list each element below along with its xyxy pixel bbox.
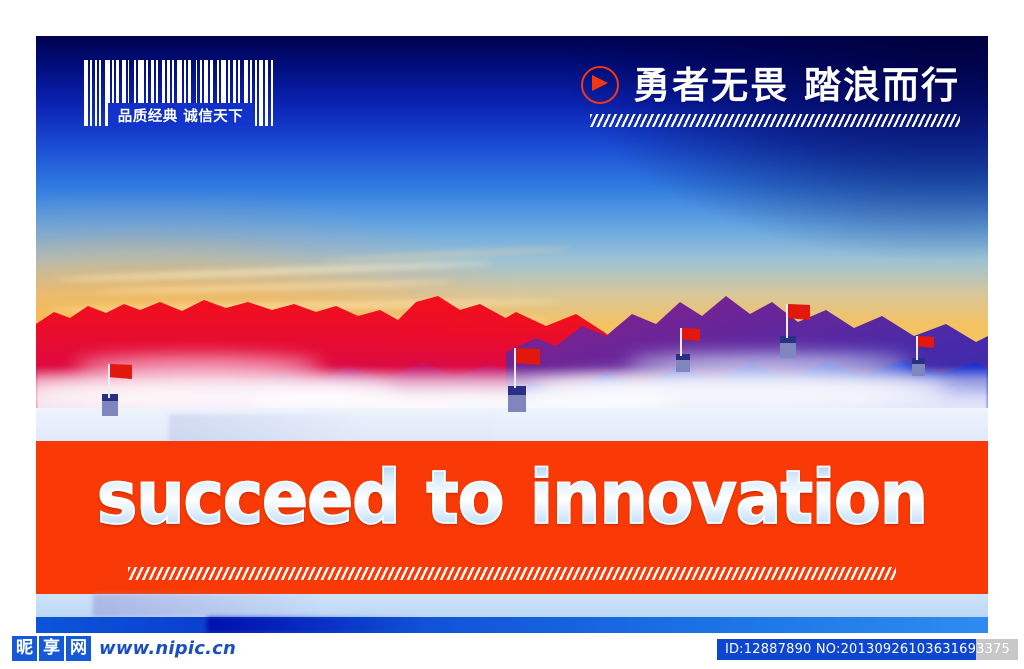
red-flag xyxy=(916,336,936,360)
flag-cloth xyxy=(516,348,540,365)
barcode-label: 品质经典 诚信天下 xyxy=(84,103,277,127)
red-flag xyxy=(680,328,702,356)
flag-cloth xyxy=(110,364,132,379)
logo-char: 享 xyxy=(39,636,64,661)
watchtower xyxy=(676,354,690,372)
watchtower xyxy=(508,386,526,412)
barcode-icon: 品质经典 诚信天下 xyxy=(84,60,277,126)
play-arrow-circle-icon xyxy=(581,66,619,104)
flag-pole xyxy=(108,364,110,398)
blue-strip xyxy=(36,617,988,633)
poster: 品质经典 诚信天下 勇者无畏 踏浪而行 succeedtoinnovation xyxy=(36,36,988,633)
headline-word: innovation xyxy=(530,461,927,535)
site-url[interactable]: www.nipic.cn xyxy=(99,638,236,659)
flag-cloth xyxy=(918,336,934,348)
flag-pole xyxy=(786,304,788,338)
footer-brand[interactable]: 昵 享 网 www.nipic.cn xyxy=(12,636,236,661)
barcode-label-text: 品质经典 诚信天下 xyxy=(118,105,244,126)
watchtower xyxy=(912,358,925,376)
slogan-text: 勇者无畏 踏浪而行 xyxy=(633,67,960,104)
hatch-rule-header xyxy=(590,114,960,127)
poster-canvas: 品质经典 诚信天下 勇者无畏 踏浪而行 succeedtoinnovation xyxy=(0,0,1024,669)
watchtower xyxy=(780,336,796,358)
flag-pole xyxy=(680,328,682,356)
wall-reflection xyxy=(169,414,493,444)
image-meta: ID:12887890 NO:20130926103631693375 xyxy=(717,639,1018,660)
headline-word: succeed xyxy=(97,461,400,535)
slogan: 勇者无畏 踏浪而行 xyxy=(581,66,960,104)
mist-wisp xyxy=(626,354,912,374)
mist-wisp xyxy=(531,372,950,408)
red-flag xyxy=(786,304,812,338)
flag-pole xyxy=(514,348,516,388)
nipic-logo[interactable]: 昵 享 网 xyxy=(12,636,91,661)
headline-word: to xyxy=(426,461,503,535)
footer: 昵 享 网 www.nipic.cn ID:12887890 NO:201309… xyxy=(0,633,1024,669)
logo-char: 网 xyxy=(66,636,91,661)
flag-cloth xyxy=(788,304,810,320)
flag-pole xyxy=(916,336,918,360)
pale-strip xyxy=(36,594,988,617)
strip-wash xyxy=(207,617,474,633)
strip-wash xyxy=(93,594,398,617)
red-flag xyxy=(108,364,134,398)
red-flag xyxy=(514,348,542,388)
hatch-rule-headline xyxy=(128,567,896,580)
logo-char: 昵 xyxy=(12,636,37,661)
flag-cloth xyxy=(682,328,700,341)
page-title: succeedtoinnovation xyxy=(36,461,988,535)
headline-band: succeedtoinnovation xyxy=(36,441,988,594)
